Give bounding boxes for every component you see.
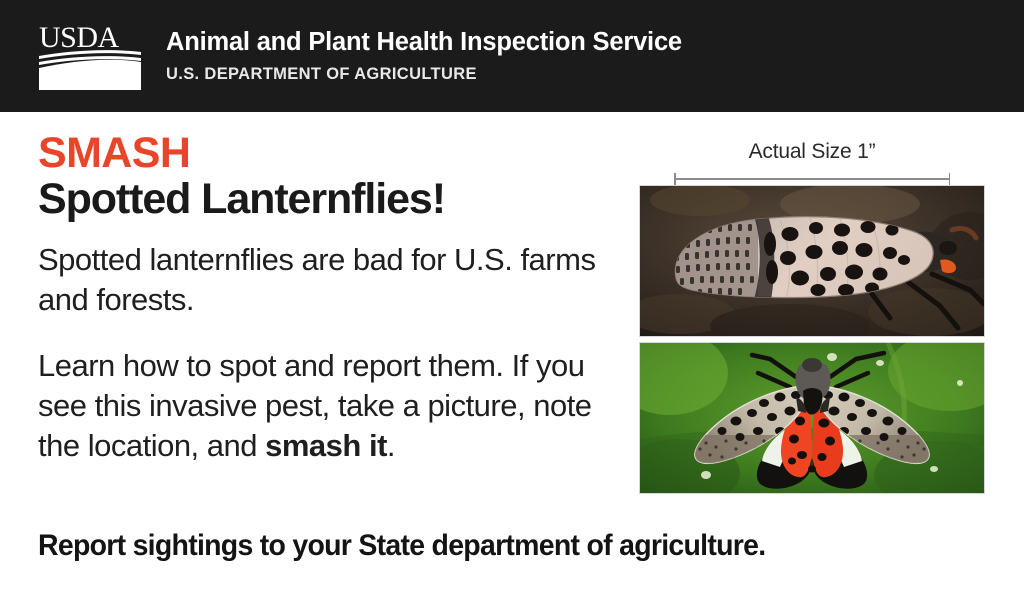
scale-ruler-cap-right (949, 173, 951, 185)
scale-ruler-graphic (674, 173, 950, 185)
usda-lanternfly-card: USDA Animal and Plant Health Inspection … (0, 0, 1024, 611)
svg-text:USDA: USDA (39, 21, 120, 54)
header-text-block: Animal and Plant Health Inspection Servi… (166, 28, 682, 83)
headline-accent-word: SMASH (38, 132, 613, 175)
body-paragraph-2: Learn how to spot and report them. If yo… (38, 346, 613, 467)
body-paragraph-2-emphasis: smash it (265, 428, 387, 463)
department-name: U.S. DEPARTMENT OF AGRICULTURE (166, 65, 682, 83)
actual-size-label: Actual Size 1” (640, 140, 984, 164)
photo-spotted-lanternfly-wings-closed (640, 186, 984, 336)
photo-column: Actual Size 1” (640, 140, 984, 500)
report-sightings-cta: Report sightings to your State departmen… (38, 530, 969, 562)
usda-header-banner: USDA Animal and Plant Health Inspection … (0, 0, 1024, 112)
body-paragraph-2-suffix: . (387, 428, 395, 463)
main-content-column: SMASH Spotted Lanternflies! Spotted lant… (38, 132, 613, 467)
usda-logo: USDA (38, 21, 142, 91)
page-title: Spotted Lanternflies! (38, 177, 613, 222)
scale-ruler-line (674, 178, 950, 180)
body-paragraph-1: Spotted lanternflies are bad for U.S. fa… (38, 240, 613, 321)
actual-size-indicator: Actual Size 1” (640, 140, 984, 186)
photo-spotted-lanternfly-wings-open (640, 343, 984, 493)
agency-name: Animal and Plant Health Inspection Servi… (166, 28, 682, 56)
